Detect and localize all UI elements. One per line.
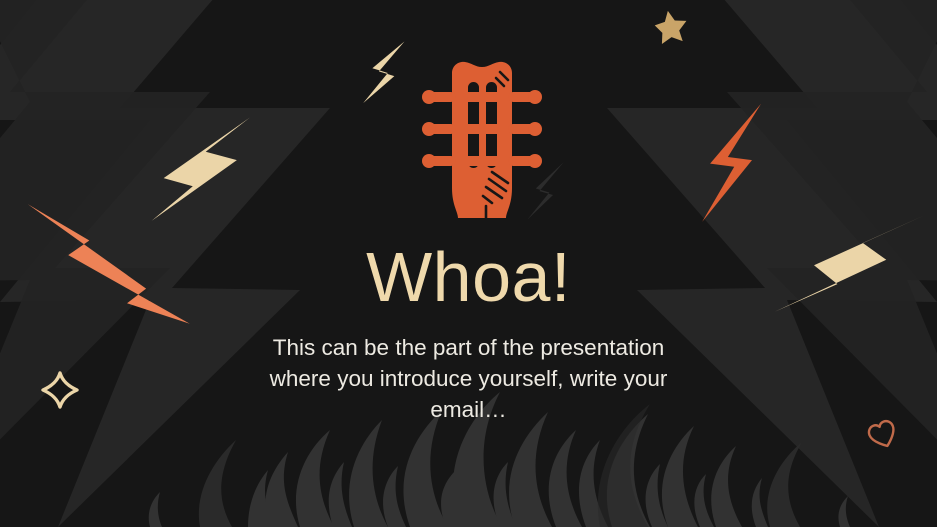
lightning-bolt-dark-small-center xyxy=(527,158,563,223)
lightning-bolt-orange-right xyxy=(698,104,765,222)
slide-subtitle: This can be the part of the presentation… xyxy=(269,332,669,425)
lightning-bolt-cream-left xyxy=(152,106,250,232)
lightning-bolt-cream-small-top xyxy=(363,36,404,108)
star-icon xyxy=(653,9,689,45)
page-title: Whoa! xyxy=(0,236,937,318)
guitar-headstock-icon xyxy=(422,62,542,218)
presentation-slide: Whoa! This can be the part of the presen… xyxy=(0,0,937,527)
slide-text-block: Whoa! This can be the part of the presen… xyxy=(0,236,937,425)
